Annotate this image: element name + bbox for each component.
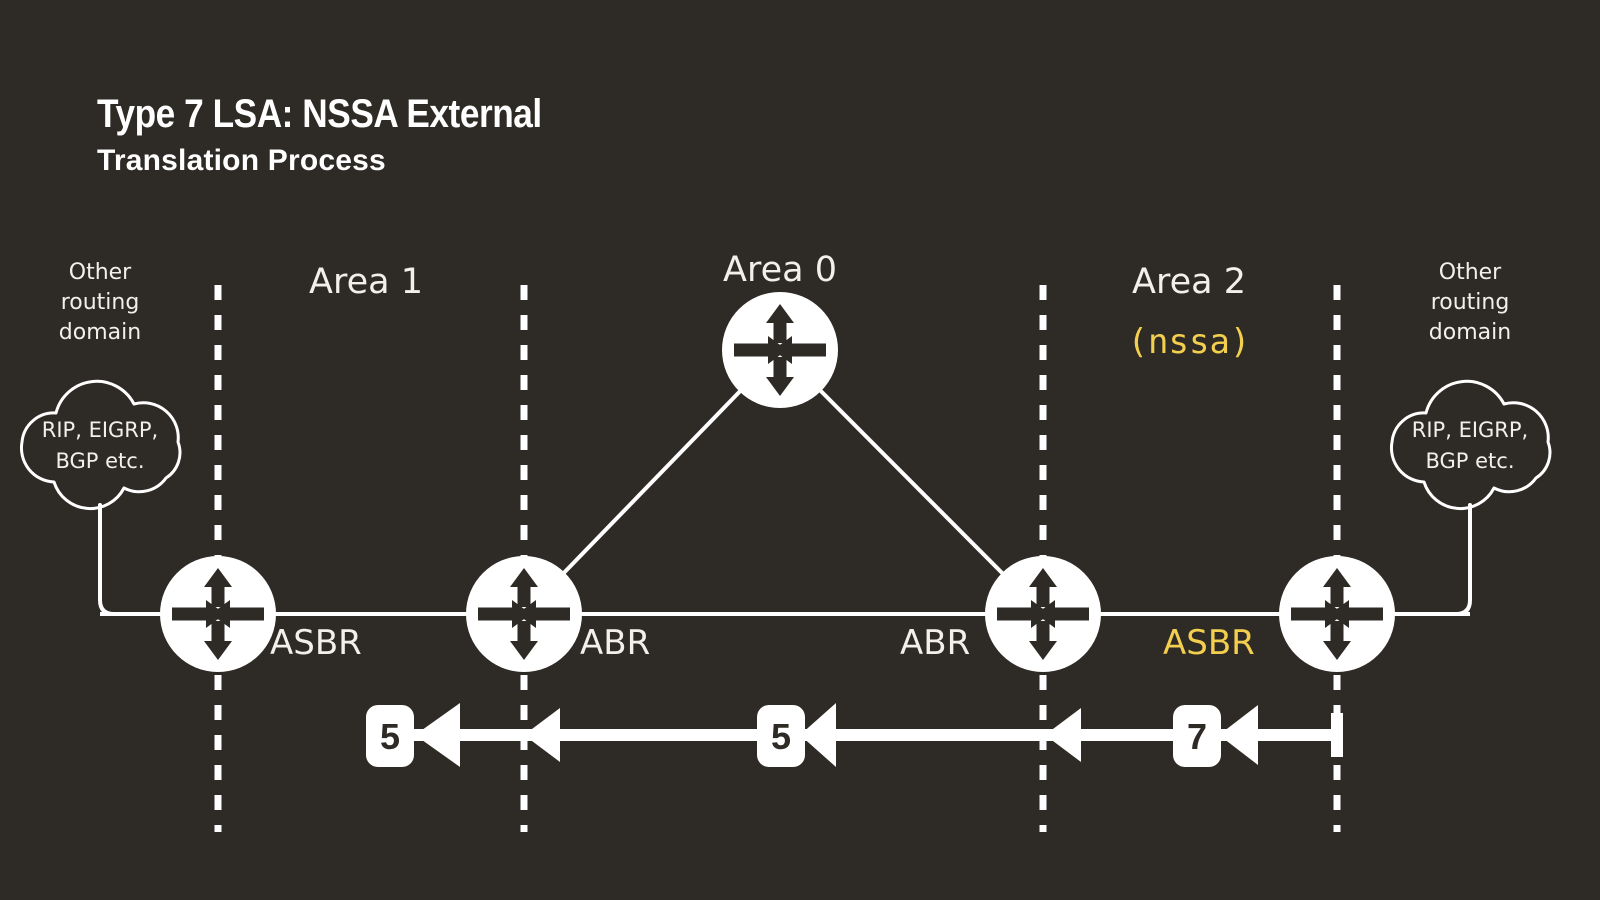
diagram-canvas: Type 7 LSA: NSSA External Translation Pr… <box>0 0 1600 900</box>
area-label-area-1: Area 1 <box>309 262 423 302</box>
router-icon-asbr-right[interactable] <box>1279 556 1395 672</box>
router-role-label-abr-left: ABR <box>580 624 650 662</box>
link-left-cloud-to-asbr <box>100 505 170 614</box>
external-domain-label-left: Other routing domain <box>10 258 190 348</box>
lsa-arrowhead-1 <box>415 703 460 767</box>
cloud-text-right-line1: RIP, EIGRP, <box>1375 415 1565 446</box>
lsa-arrowhead-5 <box>1219 705 1258 765</box>
router-icon-asbr-left[interactable] <box>160 556 276 672</box>
area-label-area-2: Area 2 <box>1132 262 1246 302</box>
lsa-badge-value-middle: 5 <box>771 719 791 755</box>
title-block: Type 7 LSA: NSSA External Translation Pr… <box>97 92 602 179</box>
external-domain-label-left-line2: routing <box>10 288 190 318</box>
cloud-text-left: RIP, EIGRP, BGP etc. <box>5 415 195 477</box>
cloud-text-right-line2: BGP etc. <box>1375 446 1565 477</box>
lsa-flow-origin-tick <box>1331 713 1343 757</box>
lsa-arrowhead-3 <box>800 703 836 767</box>
page-title: Type 7 LSA: NSSA External <box>97 92 542 136</box>
router-icon-abr-right[interactable] <box>985 556 1101 672</box>
external-domain-label-right-line3: domain <box>1380 318 1560 348</box>
router-role-label-asbr-right: ASBR <box>1163 624 1255 662</box>
external-domain-label-right-line1: Other <box>1380 258 1560 288</box>
cloud-text-left-line1: RIP, EIGRP, <box>5 415 195 446</box>
lsa-badge-value-left: 5 <box>380 719 400 755</box>
external-domain-label-right-line2: routing <box>1380 288 1560 318</box>
link-right-cloud-to-asbr <box>1400 505 1470 614</box>
router-role-label-abr-right: ABR <box>900 624 970 662</box>
cloud-text-right: RIP, EIGRP, BGP etc. <box>1375 415 1565 477</box>
lsa-arrowhead-2 <box>524 708 560 762</box>
external-domain-label-left-line3: domain <box>10 318 190 348</box>
router-icon-backbone[interactable] <box>722 292 838 408</box>
external-domain-label-right: Other routing domain <box>1380 258 1560 348</box>
cloud-text-left-line2: BGP etc. <box>5 446 195 477</box>
page-subtitle: Translation Process <box>97 143 602 179</box>
external-domain-label-left-line1: Other <box>10 258 190 288</box>
area-label-area-2-nssa: (nssa) <box>1128 322 1251 362</box>
router-icon-abr-left[interactable] <box>466 556 582 672</box>
lsa-arrowhead-4 <box>1045 708 1081 762</box>
router-role-label-asbr-left: ASBR <box>270 624 362 662</box>
area-label-area-0: Area 0 <box>723 250 837 290</box>
lsa-badge-value-right: 7 <box>1187 719 1207 755</box>
